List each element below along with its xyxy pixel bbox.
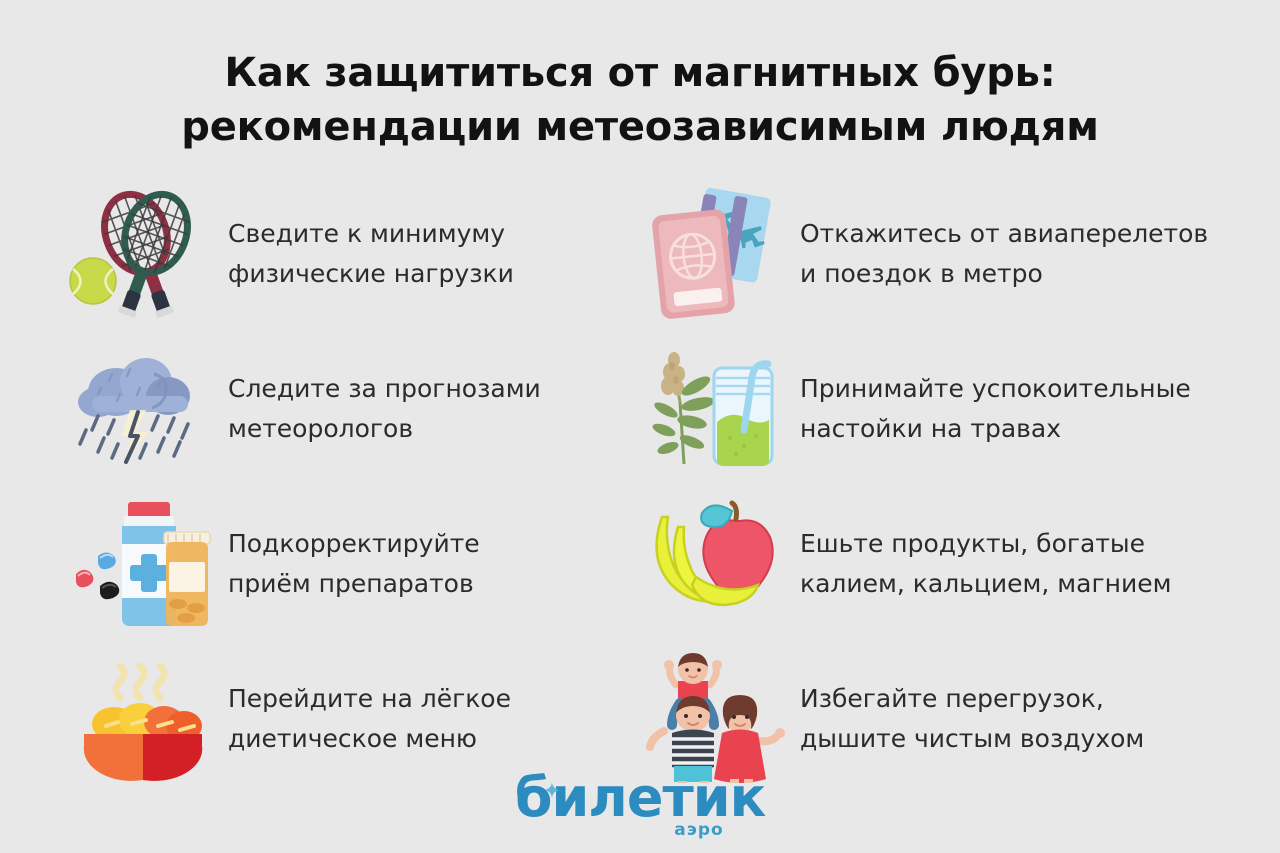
tip-text: Откажитесь от авиаперелетов и поездок в …: [800, 214, 1208, 294]
tip-take-herbal-sedatives: Принимайте успокоительные настойки на тр…: [640, 331, 1280, 486]
tip-text: Ешьте продукты, богатые калием, кальцием…: [800, 524, 1171, 604]
passport-tickets-icon: [640, 188, 790, 320]
title-line-1: Как защититься от магнитных бурь:: [0, 46, 1280, 100]
tip-eat-potassium-rich-food: Ешьте продукты, богатые калием, кальцием…: [640, 486, 1280, 641]
tip-avoid-flights-and-metro: Откажитесь от авиаперелетов и поездок в …: [640, 176, 1280, 331]
tennis-rackets-icon: [68, 188, 218, 320]
page-title: Как защититься от магнитных бурь: рекоме…: [0, 0, 1280, 154]
tip-adjust-medication: Подкорректируйте приём препаратов: [0, 486, 640, 641]
tip-text: Подкорректируйте приём препаратов: [228, 524, 480, 604]
banana-apple-icon: [640, 498, 790, 630]
tip-watch-weather-forecasts: Следите за прогнозами метеорологов: [0, 331, 640, 486]
tips-grid: Сведите к минимуму физические нагрузки: [0, 176, 1280, 796]
title-line-2: рекомендации метеозависимым людям: [0, 100, 1280, 154]
hot-food-bowl-icon: [68, 653, 218, 785]
tip-text: Сведите к минимуму физические нагрузки: [228, 214, 514, 294]
rain-cloud-icon: [68, 343, 218, 475]
tip-text: Принимайте успокоительные настойки на тр…: [800, 369, 1191, 449]
herbal-drink-icon: [640, 343, 790, 475]
tip-text: Избегайте перегрузок, дышите чистым возд…: [800, 679, 1144, 759]
sparkle-icon: ✦: [543, 764, 560, 820]
infographic-root: Как защититься от магнитных бурь: рекоме…: [0, 0, 1280, 853]
tip-text: Перейдите на лёгкое диетическое меню: [228, 679, 511, 759]
family-icon: [640, 653, 790, 785]
medicine-bottles-icon: [68, 498, 218, 630]
brand-logo[interactable]: ✦ билетик аэро: [0, 770, 1280, 840]
tip-limit-physical-activity: Сведите к минимуму физические нагрузки: [0, 176, 640, 331]
tip-text: Следите за прогнозами метеорологов: [228, 369, 541, 449]
logo-wordmark: ✦ билетик: [515, 770, 766, 826]
